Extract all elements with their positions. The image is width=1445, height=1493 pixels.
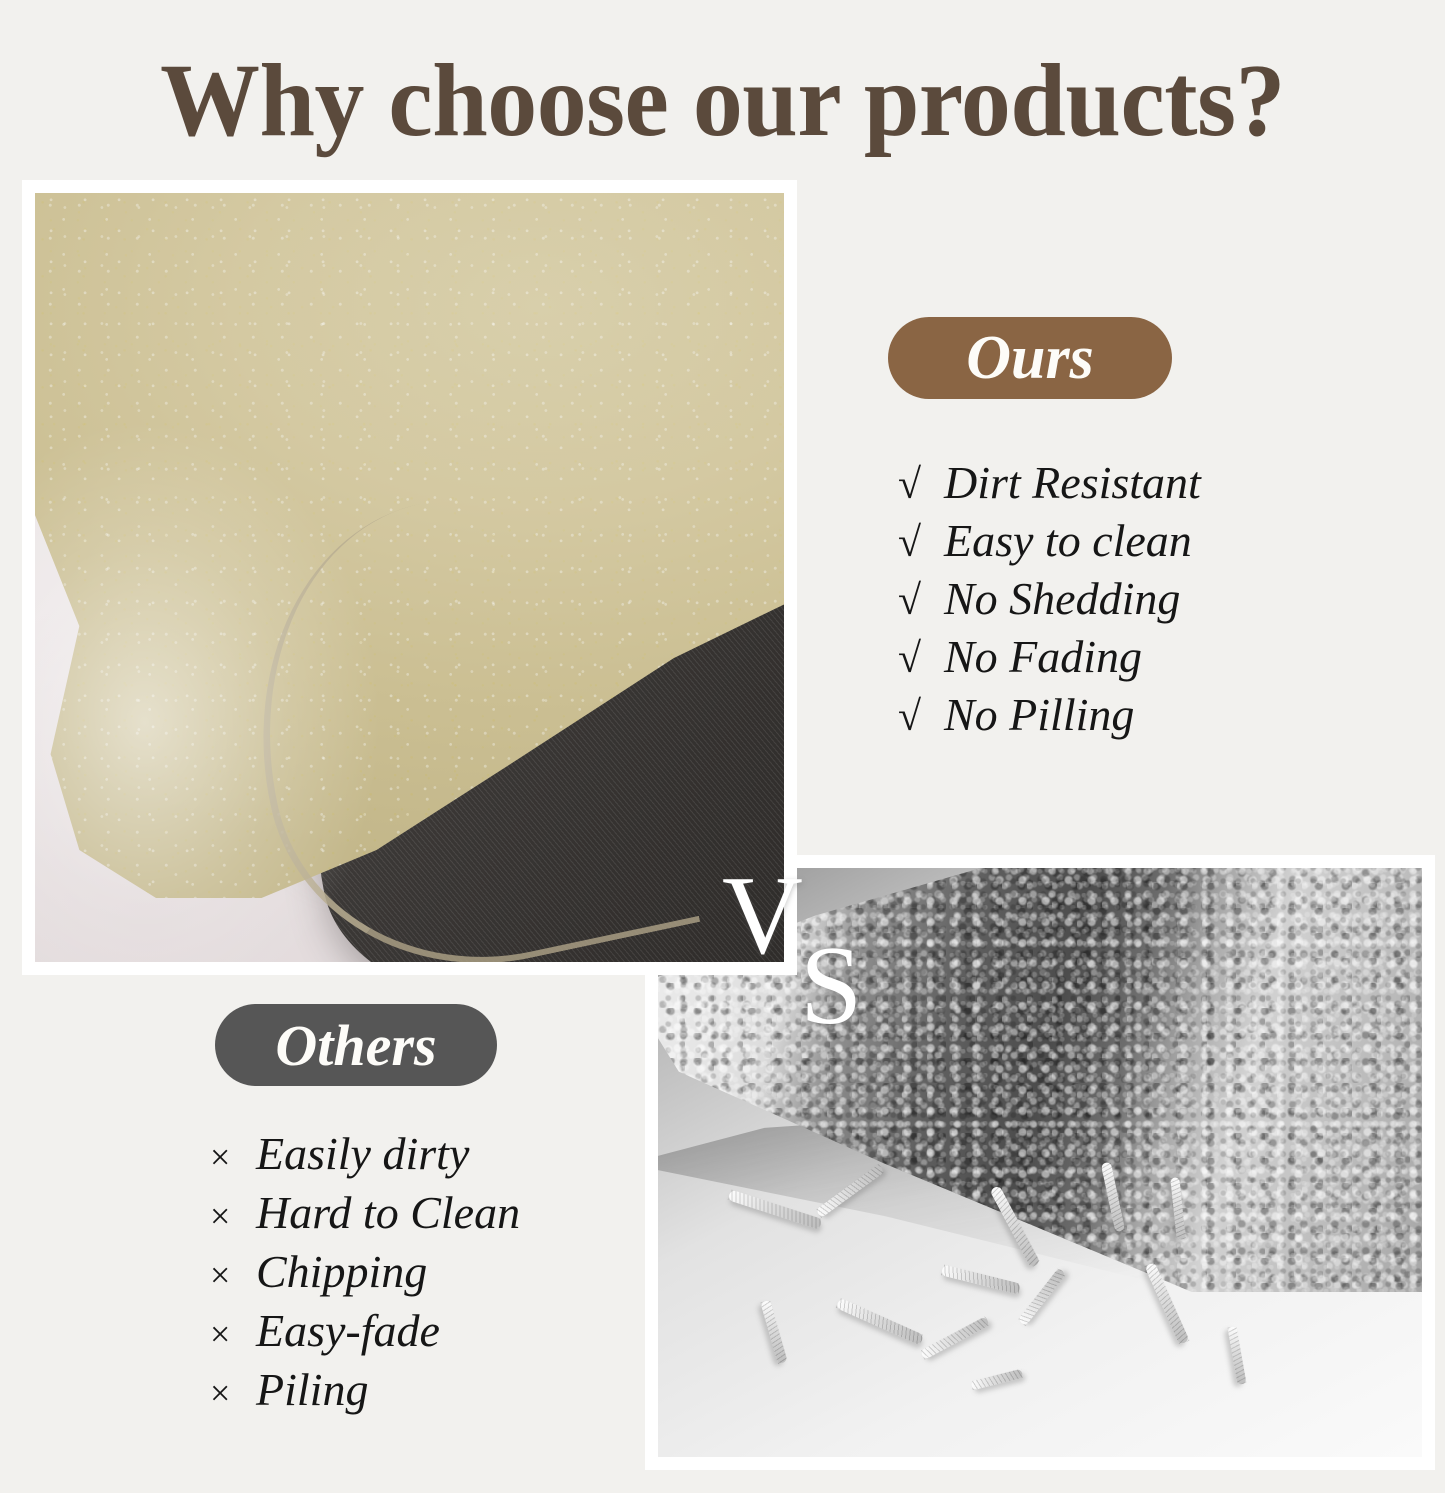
others-feature-label: Easy-fade [256,1303,440,1358]
list-item: √ No Pilling [898,687,1201,745]
ours-badge: Ours [888,317,1172,399]
ours-feature-label: Easy to clean [944,513,1192,568]
cross-icon: × [210,1366,256,1421]
ours-feature-label: Dirt Resistant [944,455,1201,510]
others-feature-label: Piling [256,1362,368,1417]
check-icon: √ [898,690,944,745]
others-feature-label: Easily dirty [256,1126,469,1181]
others-feature-label: Chipping [256,1244,427,1299]
check-icon: √ [898,516,944,571]
ours-product-photo [35,193,784,962]
list-item: × Easily dirty [210,1126,520,1185]
cross-icon: × [210,1248,256,1303]
others-feature-list: × Easily dirty × Hard to Clean × Chippin… [210,1126,520,1421]
others-badge: Others [215,1004,497,1086]
check-icon: √ [898,632,944,687]
ours-feature-label: No Fading [944,629,1142,684]
cross-icon: × [210,1130,256,1185]
list-item: √ No Shedding [898,571,1201,629]
ours-product-photo-frame [22,180,797,975]
list-item: × Hard to Clean [210,1185,520,1244]
ours-feature-label: No Shedding [944,571,1180,626]
list-item: √ Dirt Resistant [898,455,1201,513]
ours-feature-label: No Pilling [944,687,1134,742]
list-item: × Easy-fade [210,1303,520,1362]
cross-icon: × [210,1307,256,1362]
page-title: Why choose our products? [29,46,1416,156]
list-item: √ No Fading [898,629,1201,687]
list-item: × Piling [210,1362,520,1421]
list-item: √ Easy to clean [898,513,1201,571]
others-feature-label: Hard to Clean [256,1185,520,1240]
cross-icon: × [210,1189,256,1244]
ours-feature-list: √ Dirt Resistant √ Easy to clean √ No Sh… [898,455,1201,745]
check-icon: √ [898,458,944,513]
list-item: × Chipping [210,1244,520,1303]
check-icon: √ [898,574,944,629]
